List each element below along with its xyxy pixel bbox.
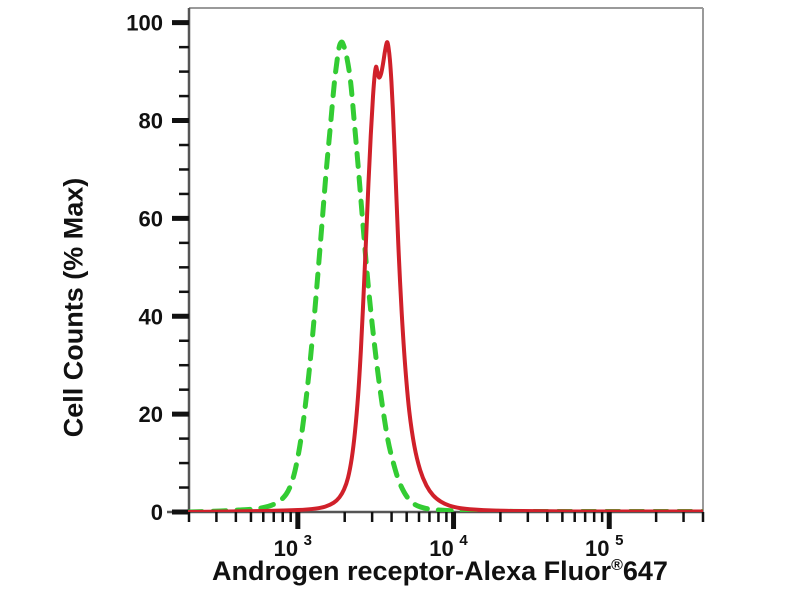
y-axis-tick-labels: 020406080100 xyxy=(126,11,163,525)
y-axis-ticks xyxy=(172,23,189,512)
svg-text:80: 80 xyxy=(139,109,163,134)
svg-text:100: 100 xyxy=(126,11,163,36)
svg-text:0: 0 xyxy=(151,500,163,525)
registered-trademark-icon: ® xyxy=(611,557,623,574)
svg-text:60: 60 xyxy=(139,206,163,231)
svg-text:5: 5 xyxy=(615,532,623,549)
svg-text:4: 4 xyxy=(459,532,468,549)
svg-text:20: 20 xyxy=(139,402,163,427)
svg-text:40: 40 xyxy=(139,304,163,329)
x-axis-title-main: Androgen receptor-Alexa Fluor xyxy=(212,556,611,586)
svg-text:3: 3 xyxy=(304,532,312,549)
flow-cytometry-histogram-figure: 020406080100 103104105 Cell Counts (% Ma… xyxy=(0,0,800,600)
x-axis-title: Androgen receptor-Alexa Fluor®647 xyxy=(140,556,740,587)
x-axis-ticks xyxy=(189,512,703,529)
plot-canvas: 020406080100 103104105 xyxy=(0,0,800,600)
plot-background xyxy=(188,8,703,512)
x-axis-title-tail: 647 xyxy=(623,556,668,586)
